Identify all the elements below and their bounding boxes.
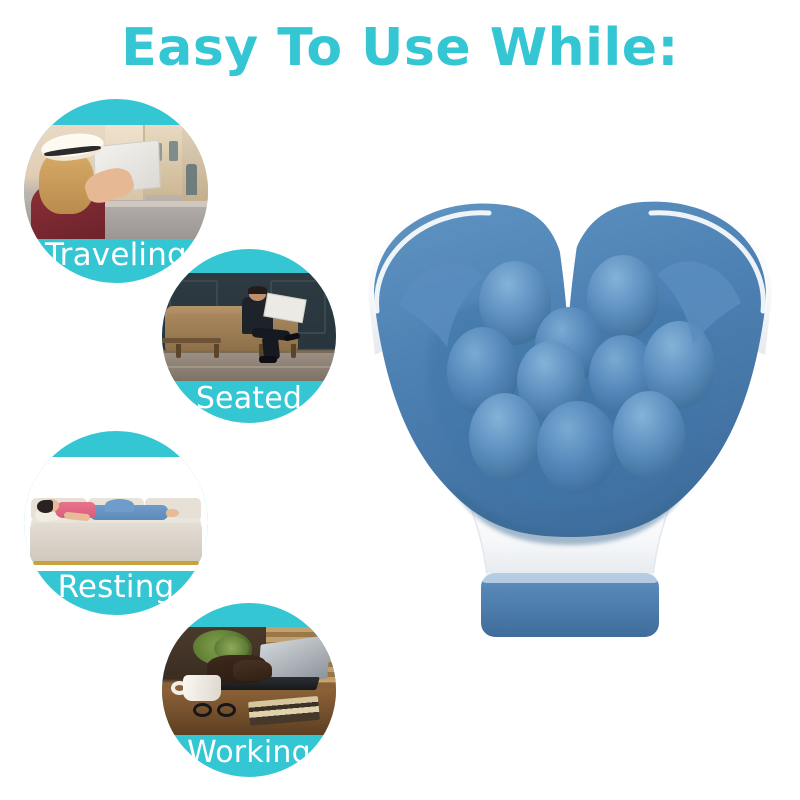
couch-leg-icon — [176, 344, 181, 358]
sofa-base-icon — [30, 523, 203, 562]
woman-knee-icon — [105, 499, 134, 512]
sofa-foot-icon — [33, 561, 199, 566]
eyeglass-lens-icon — [217, 703, 236, 717]
product-image-neck-relaxer — [355, 185, 785, 665]
couch-leg-icon — [291, 344, 296, 358]
man-hair-icon — [248, 286, 267, 294]
rug-stripe-icon — [162, 366, 336, 368]
scene-traveling — [24, 125, 208, 239]
badge-resting[interactable]: Resting — [18, 425, 214, 621]
coffee-mug-icon — [183, 675, 221, 701]
coffee-table-icon — [162, 338, 221, 343]
eyeglass-lens-icon — [193, 703, 212, 717]
woman-foot-icon — [166, 509, 179, 517]
woman-hair-icon — [37, 500, 54, 513]
window-icon — [169, 141, 177, 162]
badge-working[interactable]: Working — [156, 597, 342, 783]
badge-resting-label: Resting — [24, 570, 208, 604]
product-strip-highlight — [481, 573, 659, 583]
page-title: Easy To Use While: — [0, 18, 800, 78]
badge-seated-label: Seated — [162, 382, 336, 416]
couch-leg-icon — [214, 344, 219, 358]
scene-resting — [24, 457, 208, 571]
badge-traveling-label: Traveling — [24, 238, 208, 272]
foam-bump — [613, 391, 685, 479]
foam-bump — [537, 401, 617, 493]
scene-seated — [162, 273, 336, 381]
scene-working — [162, 627, 336, 735]
badge-working-label: Working — [162, 736, 336, 770]
curb-icon — [98, 201, 208, 207]
hand-icon — [233, 660, 271, 682]
eyeglasses-icon — [193, 703, 238, 717]
badge-resting-photo — [24, 457, 208, 571]
door-icon — [186, 164, 197, 196]
badge-traveling[interactable]: Traveling — [18, 93, 214, 289]
foam-bump — [469, 393, 541, 481]
shoe-icon — [259, 356, 276, 362]
badge-seated-photo — [162, 273, 336, 381]
badge-traveling-photo — [24, 125, 208, 239]
badge-working-photo — [162, 627, 336, 735]
